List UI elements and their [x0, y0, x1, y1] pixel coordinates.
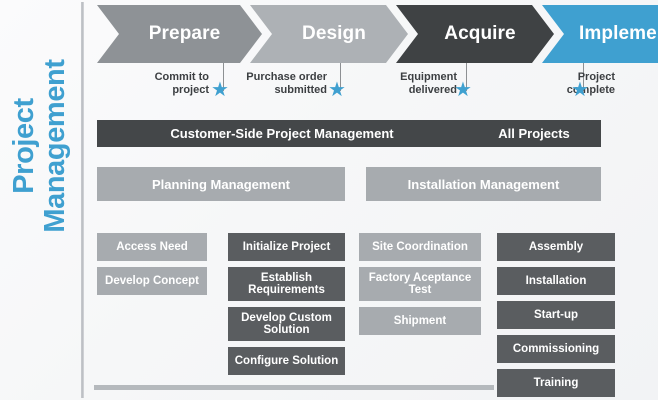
- management-bar-installation[interactable]: Installation Management: [366, 167, 601, 201]
- milestone-label: Project complete: [515, 71, 615, 96]
- bottom-rule: [94, 385, 494, 390]
- scope-bar-main-label: Customer-Side Project Management: [97, 126, 467, 141]
- task-box[interactable]: Installation: [497, 267, 615, 295]
- milestone-label: Purchase order submitted: [227, 71, 327, 96]
- task-box[interactable]: Access Need: [97, 233, 207, 261]
- task-box[interactable]: Initialize Project: [228, 233, 345, 261]
- management-bar-planning[interactable]: Planning Management: [97, 167, 345, 201]
- diagram-canvas: Project Management PrepareDesignAcquireI…: [0, 0, 658, 400]
- milestone-label: Equipment delivered: [377, 71, 457, 96]
- task-box[interactable]: Shipment: [359, 307, 481, 335]
- milestone-star-icon: ★: [571, 80, 589, 100]
- phase-chevron-label: Implement: [569, 23, 658, 45]
- scope-bar: Customer-Side Project Management All Pro…: [97, 120, 601, 147]
- milestone-star-icon: ★: [454, 80, 472, 100]
- task-box[interactable]: Site Coordination: [359, 233, 481, 261]
- task-box[interactable]: Configure Solution: [228, 347, 345, 375]
- rail-divider: [81, 2, 84, 398]
- phase-chevron-prepare[interactable]: Prepare: [97, 5, 262, 63]
- milestone-star-icon: ★: [328, 80, 346, 100]
- phase-chevron-design[interactable]: Design: [250, 5, 408, 63]
- task-box[interactable]: Develop Custom Solution: [228, 307, 345, 341]
- task-box[interactable]: Assembly: [497, 233, 615, 261]
- task-box[interactable]: Factory Aceptance Test: [359, 267, 481, 301]
- task-column-assessment: Access NeedDevelop Concept: [97, 233, 207, 301]
- phase-chevron-label: Design: [292, 23, 366, 45]
- phase-chevron-label: Acquire: [434, 23, 515, 45]
- phase-chevron-row: PrepareDesignAcquireImplement: [97, 5, 652, 63]
- task-column-planning: Initialize ProjectEstablish Requirements…: [228, 233, 345, 381]
- milestone-label: Commit to project: [129, 71, 209, 96]
- page-title: Project Management: [9, 36, 71, 256]
- task-box[interactable]: Develop Concept: [97, 267, 207, 295]
- phase-chevron-label: Prepare: [139, 23, 220, 45]
- phase-chevron-acquire[interactable]: Acquire: [396, 5, 554, 63]
- task-column-installation: AssemblyInstallationStart-upCommissionin…: [497, 233, 615, 400]
- task-column-logistics: Site CoordinationFactory Aceptance TestS…: [359, 233, 481, 341]
- left-rail: Project Management: [0, 0, 83, 400]
- phase-chevron-implement[interactable]: Implement: [542, 5, 658, 63]
- task-box[interactable]: Establish Requirements: [228, 267, 345, 301]
- task-box[interactable]: Training: [497, 369, 615, 397]
- milestone-row: Commit to project★Purchase order submitt…: [97, 63, 652, 111]
- task-box[interactable]: Commissioning: [497, 335, 615, 363]
- scope-bar-alt-label: All Projects: [467, 126, 601, 141]
- task-box[interactable]: Start-up: [497, 301, 615, 329]
